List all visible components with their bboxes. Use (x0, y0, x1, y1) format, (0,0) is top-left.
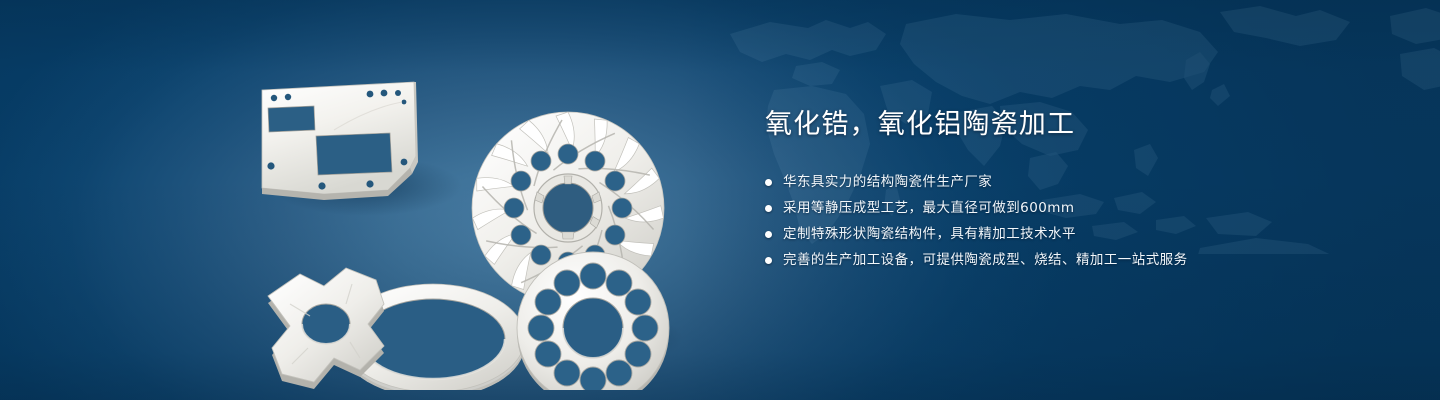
list-item: 定制特殊形状陶瓷结构件，具有精加工技术水平 (765, 222, 1365, 246)
list-item: 完善的生产加工设备，可提供陶瓷成型、烧结、精加工一站式服务 (765, 248, 1365, 272)
ceramic-plate-shape (262, 82, 418, 200)
feature-text: 定制特殊形状陶瓷结构件，具有精加工技术水平 (783, 222, 1076, 246)
hero-text-block: 氧化锆，氧化铝陶瓷加工 华东具实力的结构陶瓷件生产厂家 采用等静压成型工艺，最大… (765, 108, 1365, 274)
bullet-dot-icon (765, 231, 772, 238)
feature-text: 华东具实力的结构陶瓷件生产厂家 (783, 170, 992, 194)
feature-text: 完善的生产加工设备，可提供陶瓷成型、烧结、精加工一站式服务 (783, 248, 1188, 272)
bullet-dot-icon (765, 179, 772, 186)
bullet-dot-icon (765, 205, 772, 212)
feature-list: 华东具实力的结构陶瓷件生产厂家 采用等静压成型工艺，最大直径可做到600mm 定… (765, 170, 1365, 272)
hero-banner: 氧化锆，氧化铝陶瓷加工 华东具实力的结构陶瓷件生产厂家 采用等静压成型工艺，最大… (0, 0, 1440, 400)
list-item: 采用等静压成型工艺，最大直径可做到600mm (765, 196, 1365, 220)
feature-text: 采用等静压成型工艺，最大直径可做到600mm (783, 196, 1074, 220)
bullet-dot-icon (765, 257, 772, 264)
product-photo-cluster (238, 38, 708, 390)
list-item: 华东具实力的结构陶瓷件生产厂家 (765, 170, 1365, 194)
page-title: 氧化锆，氧化铝陶瓷加工 (765, 108, 1365, 142)
